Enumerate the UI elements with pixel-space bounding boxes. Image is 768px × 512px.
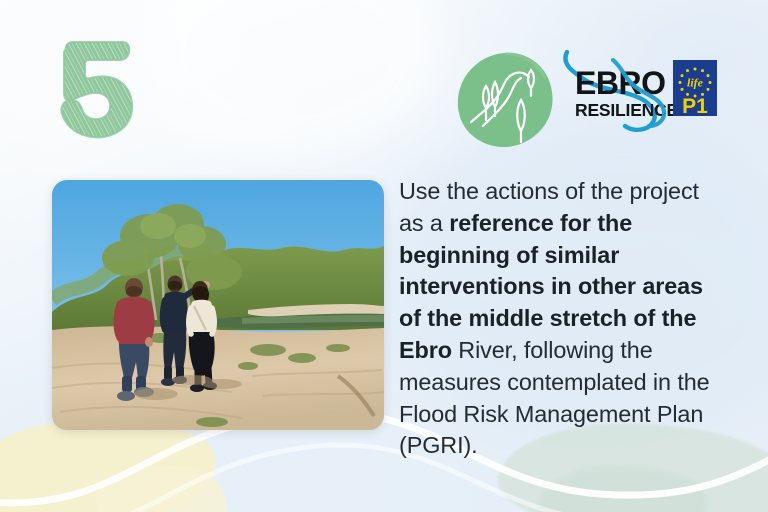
body-copy: Use the actions of the project as a refe… [399, 176, 719, 462]
watercolor-white-topleft [140, 0, 440, 160]
slide-number [36, 28, 156, 148]
life-text: life [687, 76, 704, 90]
ebro-resilience-circle-mark-icon [455, 50, 555, 150]
eu-badge-label: P1 [682, 95, 708, 118]
ebro-resilience-wordmark: EBRO RESILIENCE life P1 [563, 50, 723, 142]
slide-canvas: EBRO RESILIENCE life P1 [0, 0, 768, 512]
eu-life-badge-icon: life P1 [673, 60, 717, 118]
project-photo [52, 180, 384, 430]
logo-lockup: EBRO RESILIENCE life P1 [455, 46, 725, 151]
project-photo-illustration [52, 180, 384, 430]
number-five-sketch-icon [36, 28, 156, 148]
